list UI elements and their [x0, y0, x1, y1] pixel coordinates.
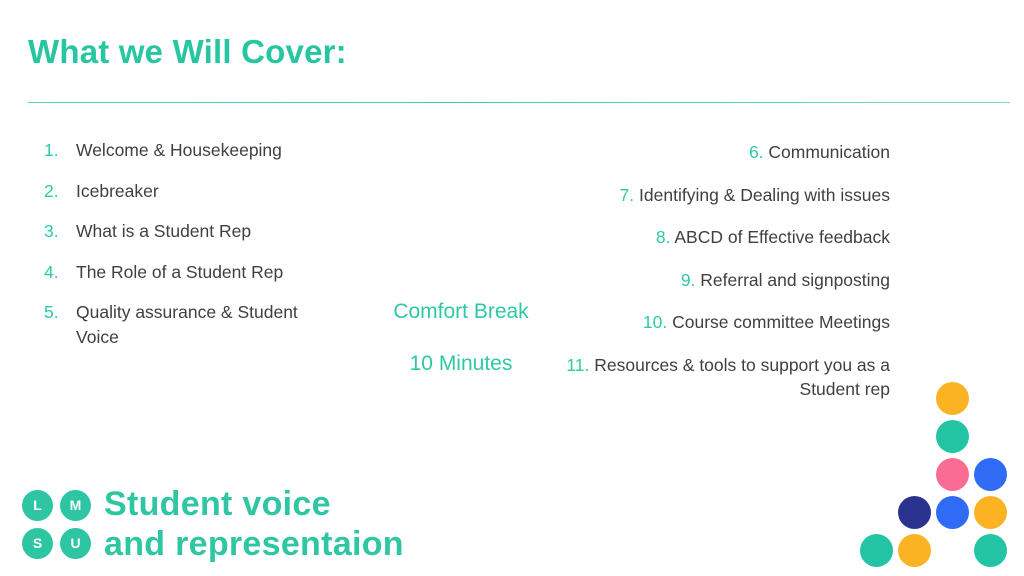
list-item-number: 8. — [656, 227, 671, 247]
list-item: 6. Communication — [560, 140, 890, 165]
list-item-label: Communication — [768, 142, 890, 162]
list-item-label: ABCD of Effective feedback — [674, 227, 890, 247]
logo-wordmark: Student voice and representaion — [104, 484, 404, 564]
list-item-label: What is a Student Rep — [76, 219, 334, 244]
list-item: 8. ABCD of Effective feedback — [560, 225, 890, 250]
list-item: 2. Icebreaker — [44, 179, 334, 204]
list-item: 3. What is a Student Rep — [44, 219, 334, 244]
list-item-label: Referral and signposting — [700, 270, 890, 290]
comfort-break-title: Comfort Break — [350, 298, 572, 325]
list-item-label: Identifying & Dealing with issues — [639, 185, 890, 205]
list-item: 5. Quality assurance & Student Voice — [44, 300, 334, 349]
list-item-number: 5. — [44, 300, 76, 349]
list-item-number: 3. — [44, 219, 76, 244]
decor-dot — [860, 534, 893, 567]
list-item: 10. Course committee Meetings — [560, 310, 890, 335]
list-item-number: 11. — [566, 355, 589, 375]
decor-dot — [974, 458, 1007, 491]
list-item-label: Welcome & Housekeeping — [76, 138, 334, 163]
list-item-number: 2. — [44, 179, 76, 204]
decor-dot — [898, 496, 931, 529]
decor-dot — [936, 382, 969, 415]
logo-circle-u: U — [60, 528, 91, 559]
list-item-number: 6. — [749, 142, 764, 162]
list-item: 1. Welcome & Housekeeping — [44, 138, 334, 163]
logo-initials-grid: L M S U — [22, 487, 94, 561]
decor-dot — [936, 458, 969, 491]
list-item: 9. Referral and signposting — [560, 268, 890, 293]
list-item: 11. Resources & tools to support you as … — [560, 353, 890, 402]
list-item-number: 1. — [44, 138, 76, 163]
decor-dot — [974, 496, 1007, 529]
brand-logo: L M S U Student voice and representaion — [22, 484, 404, 564]
decorative-dot-cluster — [858, 378, 1018, 574]
logo-circle-l: L — [22, 490, 53, 521]
comfort-break-duration: 10 Minutes — [350, 350, 572, 377]
logo-wordmark-line1: Student voice — [104, 484, 404, 524]
list-item: 4. The Role of a Student Rep — [44, 260, 334, 285]
list-item-number: 7. — [620, 185, 635, 205]
decor-dot — [936, 420, 969, 453]
list-item-label: Resources & tools to support you as a St… — [594, 355, 890, 400]
decor-dot — [936, 496, 969, 529]
comfort-break-block: Comfort Break 10 Minutes — [350, 298, 572, 378]
list-item-number: 4. — [44, 260, 76, 285]
list-item: 7. Identifying & Dealing with issues — [560, 183, 890, 208]
list-item-label: Icebreaker — [76, 179, 334, 204]
agenda-list-right: 6. Communication 7. Identifying & Dealin… — [560, 140, 890, 420]
title-divider — [28, 102, 1010, 103]
list-item-label: Course committee Meetings — [672, 312, 890, 332]
logo-circle-m: M — [60, 490, 91, 521]
logo-circle-s: S — [22, 528, 53, 559]
page-title: What we Will Cover: — [28, 33, 347, 71]
list-item-label: The Role of a Student Rep — [76, 260, 334, 285]
decor-dot — [974, 534, 1007, 567]
list-item-number: 10. — [643, 312, 667, 332]
list-item-number: 9. — [681, 270, 696, 290]
logo-wordmark-line2: and representaion — [104, 524, 404, 564]
list-item-label: Quality assurance & Student Voice — [76, 300, 334, 349]
decor-dot — [898, 534, 931, 567]
agenda-list-left: 1. Welcome & Housekeeping 2. Icebreaker … — [44, 138, 334, 365]
